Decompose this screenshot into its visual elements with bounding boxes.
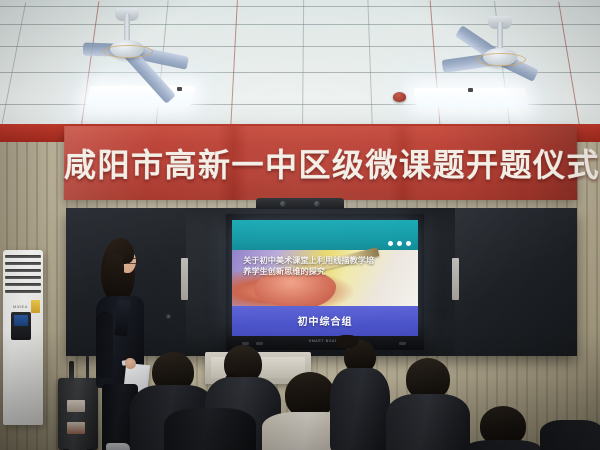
slide-footer-band: 初中综合组 [232,306,418,336]
slide-title-line-2: 养学生创新思维的探究 [243,266,409,277]
audience-member [540,420,600,450]
camera-lens-icon [314,201,320,207]
slide-title: 关于初中美术课堂上利用线描教学培 养学生创新思维的探究 [243,255,409,277]
presentation-screen[interactable]: 关于初中美术课堂上利用线描教学培 养学生创新思维的探究 初中综合组 [232,220,418,336]
slide-dots-icon [388,241,411,246]
audience-member [164,408,256,450]
camera-bar [256,198,344,209]
ceiling-fan-left [87,14,167,68]
display-menu-button[interactable] [399,342,406,345]
ac-display-icon [14,315,28,326]
presenter-arm [96,312,113,378]
event-banner: 咸阳市高新一中区级微课题开题仪式 [64,126,578,200]
blackboard-right-wing [455,208,577,356]
audience-member [466,406,540,450]
energy-label-icon [31,300,40,313]
audience-member [330,340,390,450]
air-conditioner[interactable]: MIDEA [3,250,43,425]
ceiling-sensor-icon [468,88,473,92]
interactive-display[interactable]: 关于初中美术课堂上利用线描教学培 养学生创新思维的探究 初中综合组 SMART … [226,214,424,350]
board-side-strip-left [181,258,188,300]
board-side-strip-right [452,258,459,300]
speaker-label-icon [67,400,85,412]
smoke-detector-icon [393,92,406,102]
ac-vent-louvers [5,255,41,299]
ceiling [0,0,600,132]
microphone-icon[interactable] [69,361,74,381]
camera-lens-icon [280,201,286,207]
slide-group-label: 初中综合组 [298,313,353,328]
ceiling-fan-right [460,22,540,74]
ac-brand-label: MIDEA [13,304,28,309]
audience-member [386,358,470,450]
ceiling-sensor-icon [177,87,182,91]
speaker-panel-icon [67,422,85,434]
conference-room-photo: 咸阳市高新一中区级微课题开题仪式 关于初中美术课堂上利用线描 [0,0,600,450]
banner-title: 咸阳市高新一中区级微课题开题仪式 [64,140,577,186]
slide-title-line-1: 关于初中美术课堂上利用线描教学培 [243,255,409,266]
presenter-shoe [106,443,130,450]
ac-control-panel[interactable] [11,312,31,340]
board-indicator-icon [166,314,171,319]
slide-header-band [232,220,418,250]
